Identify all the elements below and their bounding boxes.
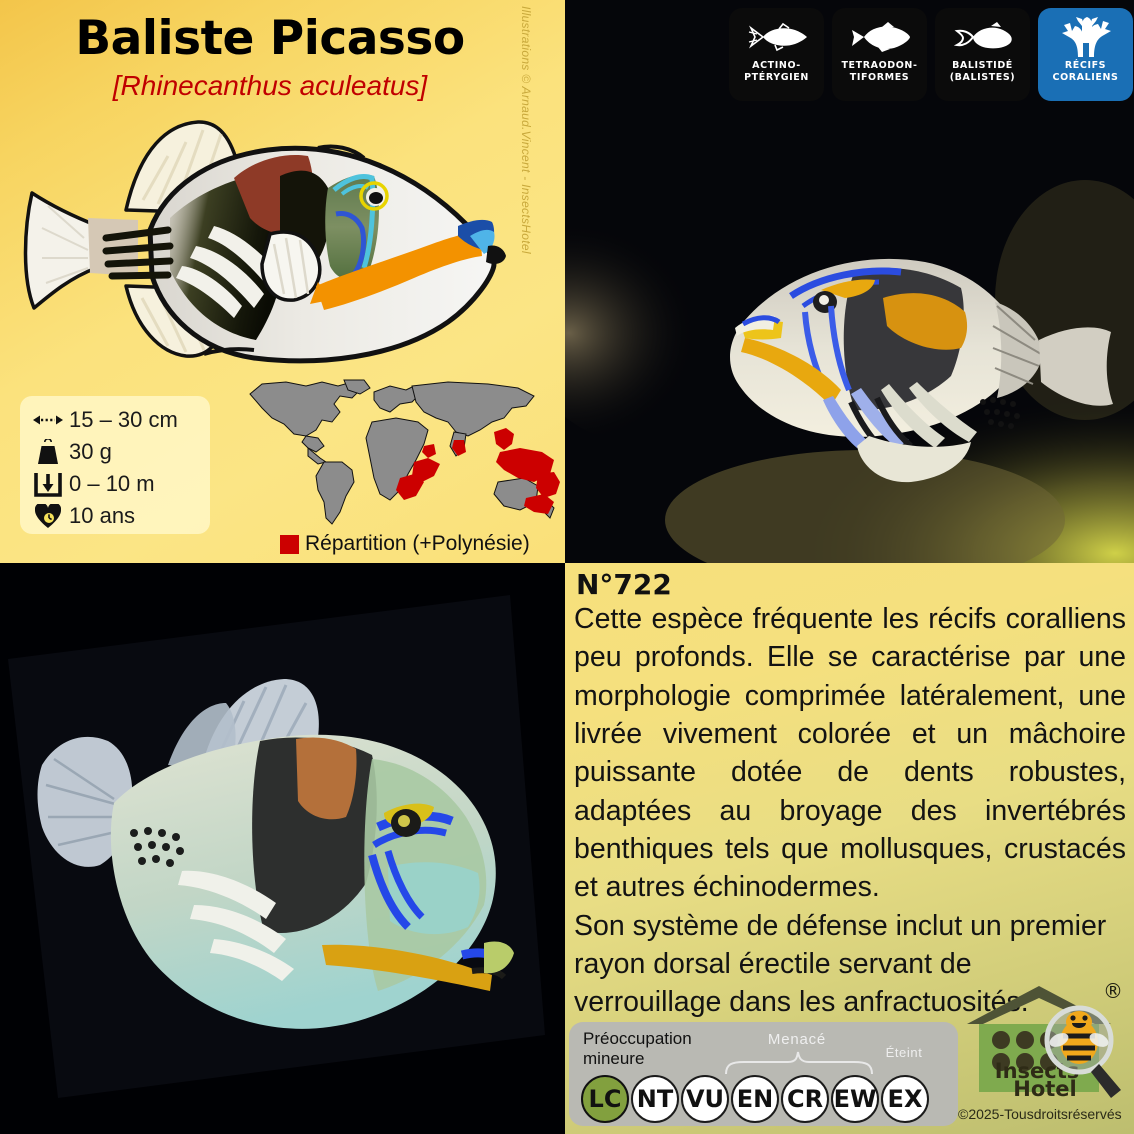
aquarium-photo bbox=[0, 563, 565, 1134]
badge-coral-reef[interactable]: RÉCIFSCORALIENS bbox=[1038, 8, 1133, 101]
iucn-cat-en[interactable]: EN bbox=[731, 1075, 779, 1123]
size-arrows-icon bbox=[32, 406, 64, 434]
map-legend: Répartition (+Polynésie) bbox=[280, 532, 565, 556]
iucn-cat-cr[interactable]: CR bbox=[781, 1075, 829, 1123]
distribution-map bbox=[248, 378, 565, 530]
badge-label-balistidae: BALISTIDÉ(BALISTES) bbox=[950, 60, 1016, 83]
depth-icon bbox=[32, 470, 64, 498]
stat-value-lifespan: 10 ans bbox=[69, 503, 135, 529]
stats-box: 15 – 30 cm 30 g bbox=[20, 396, 210, 534]
stat-row-depth: 0 – 10 m bbox=[32, 468, 200, 500]
species-number: N°722 bbox=[576, 568, 672, 601]
iucn-category-row: LC NT VU EN CR EW EX bbox=[581, 1075, 929, 1123]
badge-label-tetraodontiformes: TETRAODON-TIFORMES bbox=[841, 60, 917, 83]
coral-reef-icon bbox=[1058, 15, 1114, 58]
iucn-label-least-concern: Préoccupation mineure bbox=[583, 1029, 723, 1069]
copyright-text: ©2025-Tousdroitsréservés bbox=[958, 1106, 1134, 1122]
stat-row-weight: 30 g bbox=[32, 436, 200, 468]
stat-value-size: 15 – 30 cm bbox=[69, 407, 178, 433]
iucn-cat-lc[interactable]: LC bbox=[581, 1075, 629, 1123]
iucn-cat-ex[interactable]: EX bbox=[881, 1075, 929, 1123]
stat-row-size: 15 – 30 cm bbox=[32, 404, 200, 436]
fish-illustration bbox=[18, 118, 548, 388]
logo-text-line2: Hotel bbox=[1013, 1077, 1076, 1100]
iucn-status-bar: Préoccupation mineure Menacé Éteint LC N… bbox=[569, 1022, 958, 1126]
title-block: Baliste Picasso [Rhinecanthus aculeatus] bbox=[0, 14, 540, 102]
illustration-panel: Baliste Picasso [Rhinecanthus aculeatus] bbox=[0, 0, 565, 563]
legend-color-swatch bbox=[280, 535, 299, 554]
registered-mark: ® bbox=[1103, 979, 1123, 1003]
fish-balistid-icon bbox=[951, 15, 1015, 58]
taxonomy-badges: ACTINO-PTÉRYGIEN TETRAODON-TIFORMES bbox=[729, 8, 1133, 101]
iucn-cat-nt[interactable]: NT bbox=[631, 1075, 679, 1123]
stat-value-weight: 30 g bbox=[69, 439, 112, 465]
weight-icon bbox=[32, 438, 64, 466]
stat-value-depth: 0 – 10 m bbox=[69, 471, 155, 497]
page-title: Baliste Picasso bbox=[0, 14, 540, 63]
insects-hotel-logo[interactable]: Insects Hotel ® bbox=[953, 978, 1125, 1100]
description-paragraph-1: Cette espèce fréquente les récifs corall… bbox=[574, 600, 1126, 907]
badge-actinopterygian[interactable]: ACTINO-PTÉRYGIEN bbox=[729, 8, 824, 101]
badge-balistidae[interactable]: BALISTIDÉ(BALISTES) bbox=[935, 8, 1030, 101]
scientific-name: [Rhinecanthus aculeatus] bbox=[0, 70, 540, 102]
stat-row-lifespan: 10 ans bbox=[32, 500, 200, 532]
iucn-label-threatened: Menacé bbox=[732, 1031, 862, 1048]
badge-label-coral-reef: RÉCIFSCORALIENS bbox=[1053, 60, 1119, 83]
badge-tetraodontiformes[interactable]: TETRAODON-TIFORMES bbox=[832, 8, 927, 101]
description-text: Cette espèce fréquente les récifs corall… bbox=[574, 600, 1126, 1022]
species-card: Baliste Picasso [Rhinecanthus aculeatus] bbox=[0, 0, 1134, 1134]
photo-bottom-left bbox=[0, 563, 565, 1134]
fish-actinopterygian-icon bbox=[745, 15, 809, 58]
iucn-cat-vu[interactable]: VU bbox=[681, 1075, 729, 1123]
badge-label-actinopterygian: ACTINO-PTÉRYGIEN bbox=[744, 60, 809, 83]
fish-tetraodontiform-icon bbox=[848, 15, 912, 58]
illustration-credit: Illustrations © Arnaud.Vincent - Insects… bbox=[511, 6, 533, 296]
legend-label: Répartition (+Polynésie) bbox=[305, 532, 530, 556]
lifespan-heart-icon bbox=[32, 502, 64, 530]
iucn-bracket bbox=[724, 1050, 874, 1076]
iucn-cat-ew[interactable]: EW bbox=[831, 1075, 879, 1123]
